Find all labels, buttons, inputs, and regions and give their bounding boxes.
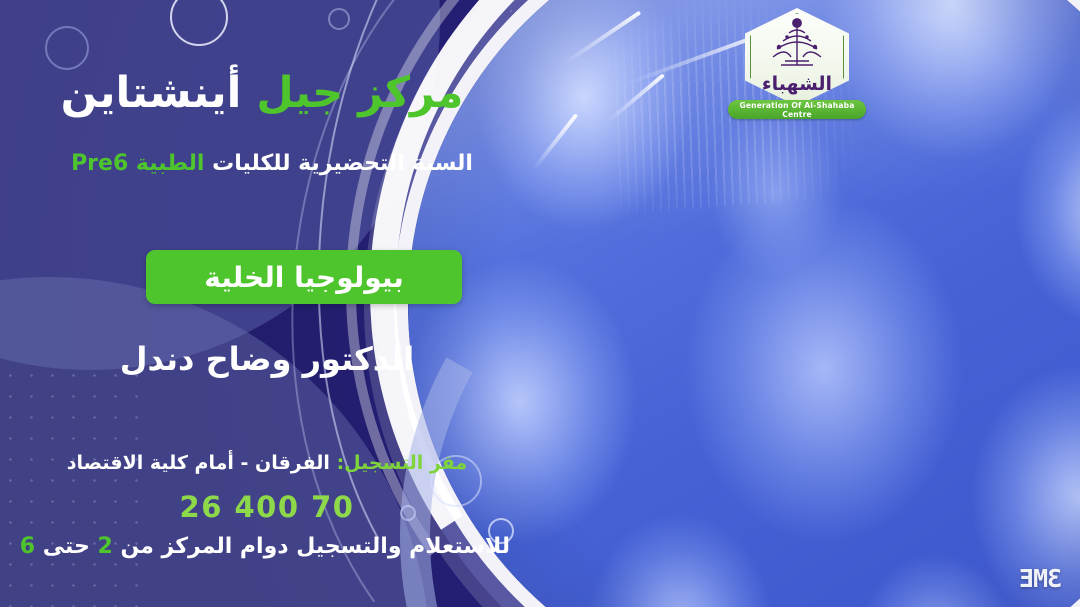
opening-hours-middle: حتى: [43, 534, 90, 559]
logo-english-ribbon: Generation Of Al-Shahaba Centre: [728, 100, 866, 119]
registration-address-label: مقر التسجيل:: [337, 452, 468, 474]
contact-phone-number[interactable]: 26 400 70: [42, 490, 492, 525]
opening-hours-to: 6: [20, 534, 35, 559]
logo-arabic-name: الشهباء: [745, 75, 849, 94]
registration-address: مقر التسجيل: الفرقان - أمام كلية الاقتصا…: [42, 452, 492, 475]
course-title-label: بيولوجيا الخلية: [204, 261, 404, 294]
opening-hours-prefix: للاستعلام والتسجيل دوام المركز من: [120, 534, 510, 559]
logo-hexagon: الشهباء: [745, 8, 849, 106]
poster-canvas: الشهباء Generation Of Al-Shahaba Centre …: [0, 0, 1080, 607]
poster-text-block: مركز جيل أينشتاين السنة التحضيرية للكليا…: [0, 0, 520, 607]
brand-title-white: أينشتاين: [61, 68, 242, 118]
brand-title: مركز جيل أينشتاين: [22, 72, 502, 115]
program-subtitle-white: السنة التحضيرية للكليات: [212, 151, 473, 176]
logo-ornament-icon: [745, 16, 849, 72]
opening-hours-from: 2: [97, 534, 112, 559]
lecturer-name: الدكتور وضاح دندل: [32, 340, 502, 378]
watermark-text: 3ME: [1020, 564, 1062, 593]
course-title-button[interactable]: بيولوجيا الخلية: [146, 250, 462, 304]
program-subtitle-green: الطبية Pre6: [71, 151, 204, 176]
program-subtitle: السنة التحضيرية للكليات الطبية Pre6: [42, 150, 502, 178]
opening-hours: للاستعلام والتسجيل دوام المركز من 2 حتى …: [30, 534, 510, 560]
registration-address-value: الفرقان - أمام كلية الاقتصاد: [67, 452, 330, 474]
brand-title-green: مركز جيل: [256, 68, 463, 118]
center-logo: الشهباء Generation Of Al-Shahaba Centre: [724, 8, 870, 126]
designer-watermark: 3ME: [1020, 564, 1062, 593]
